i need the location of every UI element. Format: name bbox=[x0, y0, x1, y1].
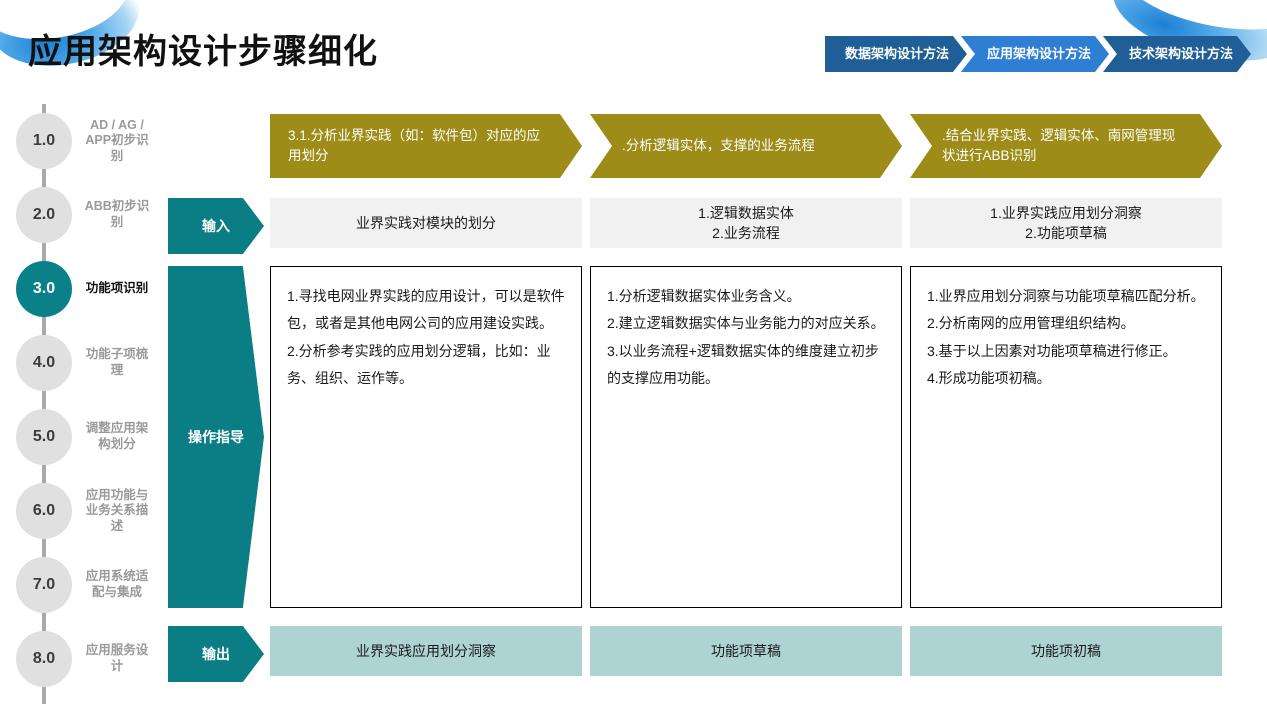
sidebar-item-8[interactable]: 8.0 应用服务设计 bbox=[0, 622, 160, 696]
output-cell-1: 业界实践应用划分洞察 bbox=[270, 626, 582, 676]
slide-root: 应用架构设计步骤细化 数据架构设计方法 应用架构设计方法 技术架构设计方法 1.… bbox=[0, 0, 1267, 720]
tab-application-architecture[interactable]: 应用架构设计方法 bbox=[961, 36, 1109, 72]
input-text-3: 1.业界实践应用划分洞察 2.功能项草稿 bbox=[990, 203, 1142, 244]
sidebar-item-5[interactable]: 5.0 调整应用架构划分 bbox=[0, 400, 160, 474]
step-number-4: 4.0 bbox=[16, 335, 72, 391]
step-number-6: 6.0 bbox=[16, 483, 72, 539]
step-label-2: ABB初步识别 bbox=[82, 199, 152, 230]
step-number-7: 7.0 bbox=[16, 557, 72, 613]
tab-data-architecture[interactable]: 数据架构设计方法 bbox=[825, 36, 967, 72]
input-cell-1: 业界实践对模块的划分 bbox=[270, 198, 582, 248]
guidance-cell-1: 1.寻找电网业界实践的应用设计，可以是软件包，或者是其他电网公司的应用建设实践。… bbox=[270, 266, 582, 608]
page-title: 应用架构设计步骤细化 bbox=[28, 24, 378, 73]
row-label-input: 输入 bbox=[168, 198, 264, 254]
sidebar-item-7[interactable]: 7.0 应用系统适配与集成 bbox=[0, 548, 160, 622]
phase-chevron-2[interactable]: .分析逻辑实体，支撑的业务流程 bbox=[590, 114, 902, 178]
phase-chevron-3[interactable]: .结合业界实践、逻辑实体、南网管理现状进行ABB识别 bbox=[910, 114, 1222, 178]
step-label-3: 功能项识别 bbox=[82, 281, 152, 297]
guidance-cell-3: 1.业界应用划分洞察与功能项草稿匹配分析。 2.分析南网的应用管理组织结构。 3… bbox=[910, 266, 1222, 608]
step-rail: 1.0 AD / AG / APP初步识别 2.0 ABB初步识别 3.0 功能… bbox=[0, 100, 160, 712]
step-number-2: 2.0 bbox=[16, 187, 72, 243]
step-number-3: 3.0 bbox=[16, 261, 72, 317]
sidebar-item-4[interactable]: 4.0 功能子项梳理 bbox=[0, 326, 160, 400]
output-text-1: 业界实践应用划分洞察 bbox=[356, 641, 496, 661]
step-number-8: 8.0 bbox=[16, 631, 72, 687]
input-text-1: 业界实践对模块的划分 bbox=[356, 213, 496, 233]
step-label-8: 应用服务设计 bbox=[82, 643, 152, 674]
guidance-text-3: 1.业界应用划分洞察与功能项草稿匹配分析。 2.分析南网的应用管理组织结构。 3… bbox=[927, 283, 1205, 392]
input-cell-2: 1.逻辑数据实体 2.业务流程 bbox=[590, 198, 902, 248]
step-number-5: 5.0 bbox=[16, 409, 72, 465]
output-cell-2: 功能项草稿 bbox=[590, 626, 902, 676]
sidebar-item-3[interactable]: 3.0 功能项识别 bbox=[0, 252, 160, 326]
sidebar-item-2[interactable]: 2.0 ABB初步识别 bbox=[0, 178, 160, 252]
phase-chevron-1[interactable]: 3.1.分析业界实践（如：软件包）对应的应用划分 bbox=[270, 114, 582, 178]
row-label-guidance: 操作指导 bbox=[168, 266, 264, 608]
step-number-1: 1.0 bbox=[16, 113, 72, 169]
top-nav: 数据架构设计方法 应用架构设计方法 技术架构设计方法 bbox=[825, 36, 1245, 72]
sidebar-item-1[interactable]: 1.0 AD / AG / APP初步识别 bbox=[0, 104, 160, 178]
input-cell-3: 1.业界实践应用划分洞察 2.功能项草稿 bbox=[910, 198, 1222, 248]
input-text-2: 1.逻辑数据实体 2.业务流程 bbox=[698, 203, 794, 244]
guidance-cell-2: 1.分析逻辑数据实体业务含义。 2.建立逻辑数据实体与业务能力的对应关系。 3.… bbox=[590, 266, 902, 608]
output-text-2: 功能项草稿 bbox=[711, 641, 781, 661]
output-text-3: 功能项初稿 bbox=[1031, 641, 1101, 661]
row-label-output: 输出 bbox=[168, 626, 264, 682]
sidebar-item-6[interactable]: 6.0 应用功能与业务关系描述 bbox=[0, 474, 160, 548]
guidance-text-1: 1.寻找电网业界实践的应用设计，可以是软件包，或者是其他电网公司的应用建设实践。… bbox=[287, 283, 567, 392]
step-label-4: 功能子项梳理 bbox=[82, 347, 152, 378]
step-label-1: AD / AG / APP初步识别 bbox=[82, 118, 152, 165]
guidance-text-2: 1.分析逻辑数据实体业务含义。 2.建立逻辑数据实体与业务能力的对应关系。 3.… bbox=[607, 283, 887, 392]
output-cell-3: 功能项初稿 bbox=[910, 626, 1222, 676]
step-label-5: 调整应用架构划分 bbox=[82, 421, 152, 452]
step-label-7: 应用系统适配与集成 bbox=[82, 569, 152, 600]
tab-technology-architecture[interactable]: 技术架构设计方法 bbox=[1103, 36, 1251, 72]
step-label-6: 应用功能与业务关系描述 bbox=[82, 488, 152, 535]
